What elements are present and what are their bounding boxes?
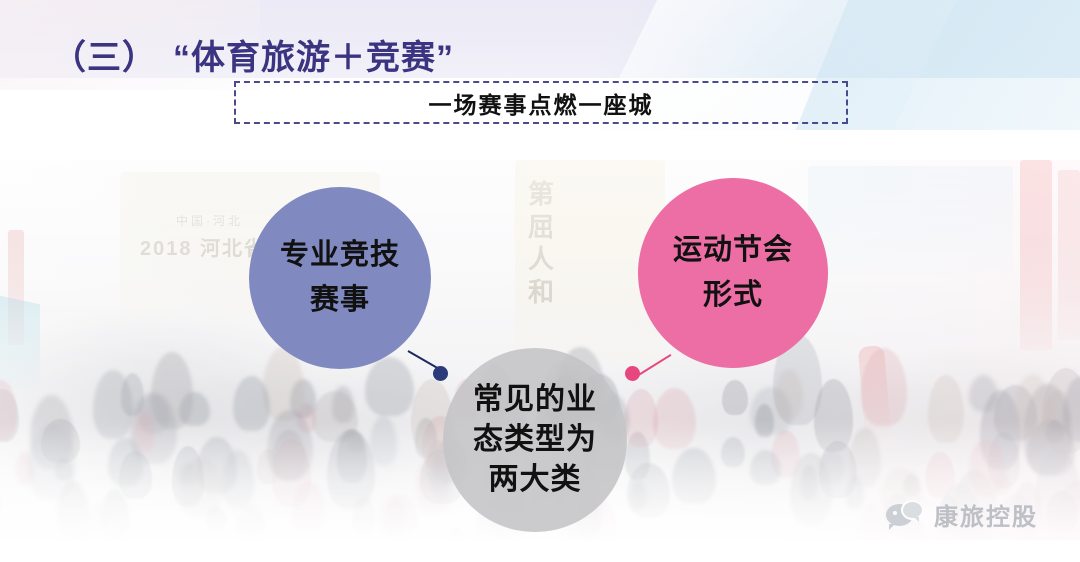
connector-pink-dot xyxy=(625,366,640,381)
circle-two-main-types[interactable]: 常见的业 态类型为 两大类 xyxy=(443,348,627,532)
headline-banner-text: 一场赛事点燃一座城 xyxy=(429,86,654,120)
headline-banner: 一场赛事点燃一座城 xyxy=(234,81,848,124)
circle-blue-line1: 专业竞技 xyxy=(280,233,400,278)
circle-sports-festival[interactable]: 运动节会 形式 xyxy=(638,178,828,368)
presentation-slide: （三）“体育旅游＋竞赛” 一场赛事点燃一座城 中国·河北 2018 河北省 第屈… xyxy=(0,0,1080,562)
page-title-number: （三） xyxy=(52,39,157,77)
circle-pink-line2: 形式 xyxy=(703,273,763,318)
wechat-icon-bubble-small xyxy=(901,500,924,520)
circle-gray-line1: 常见的业 xyxy=(473,380,597,420)
page-title-text: “体育旅游＋竞赛” xyxy=(173,39,454,77)
circle-gray-line3: 两大类 xyxy=(489,460,582,500)
wechat-icon-dot-1 xyxy=(893,511,897,515)
connector-blue-dot xyxy=(433,366,448,381)
page-title: （三）“体育旅游＋竞赛” xyxy=(52,30,454,79)
watermark: 康旅控股 xyxy=(886,497,1038,532)
circle-professional-competition[interactable]: 专业竞技 赛事 xyxy=(249,187,431,369)
circle-pink-line1: 运动节会 xyxy=(673,228,793,273)
wechat-icon xyxy=(886,500,924,530)
circle-blue-line2: 赛事 xyxy=(310,278,370,323)
watermark-label: 康旅控股 xyxy=(934,497,1038,532)
circle-gray-line2: 态类型为 xyxy=(473,420,597,460)
